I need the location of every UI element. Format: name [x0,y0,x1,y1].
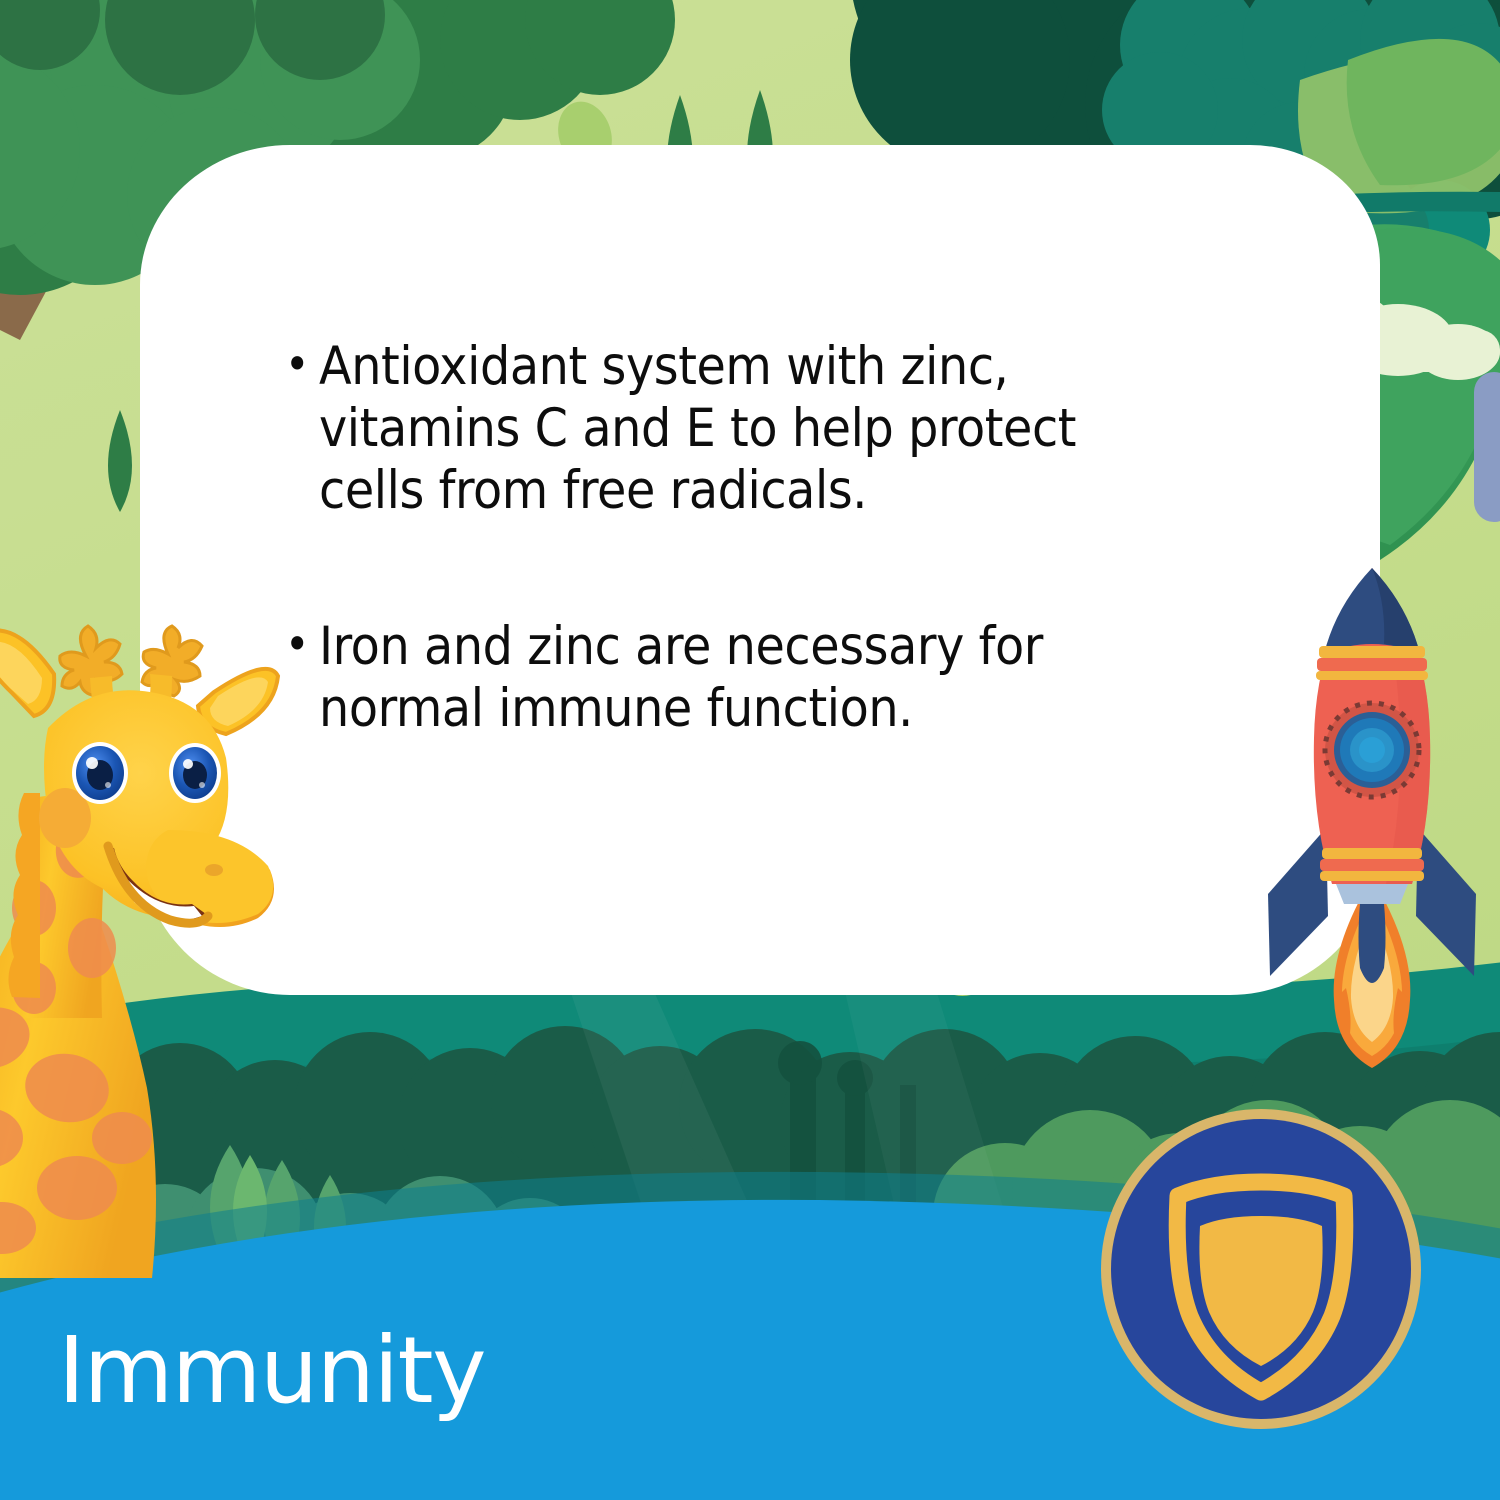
rocket-icon [1262,548,1482,1068]
right-edge-slab [1474,372,1500,522]
page-title: Immunity [58,1325,485,1417]
list-item: • Iron and zinc are necessary for normal… [285,616,1185,740]
bullet-list: • Antioxidant system with zinc, vitamins… [285,336,1185,740]
bullet-marker-icon: • [285,336,319,392]
giraffe-mascot-icon [0,618,292,1278]
rocket-porthole-icon [1325,703,1419,797]
list-item: • Antioxidant system with zinc, vitamins… [285,336,1185,522]
shield-badge-icon [1096,1104,1426,1434]
bullet-text: Antioxidant system with zinc, vitamins C… [319,336,1185,522]
slide-canvas: • Antioxidant system with zinc, vitamins… [0,0,1500,1500]
bullet-text: Iron and zinc are necessary for normal i… [319,616,1185,740]
